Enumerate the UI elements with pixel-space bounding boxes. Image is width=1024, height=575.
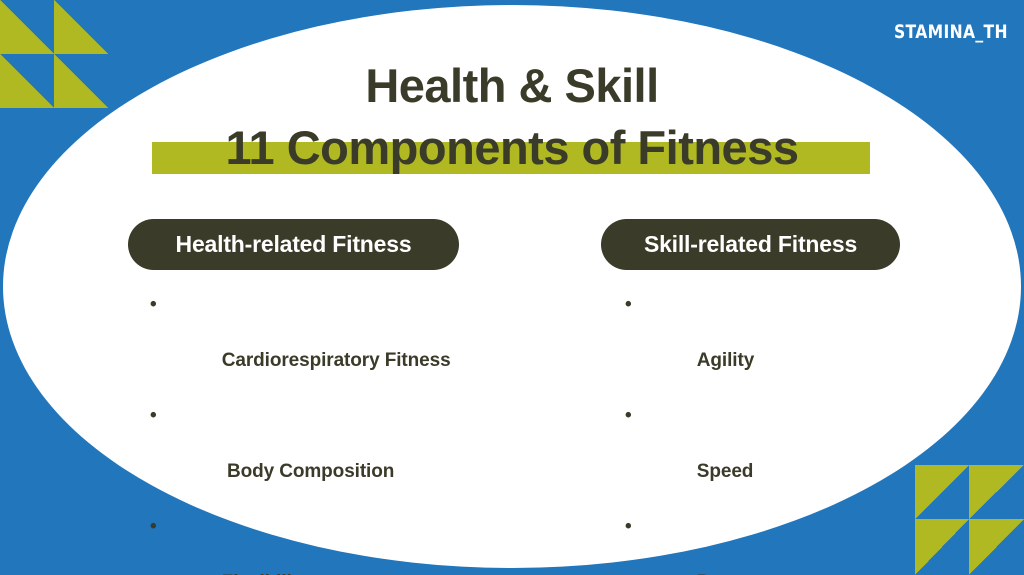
title-line-secondary: 11 Components of Fitness bbox=[0, 117, 1024, 179]
health-related-list: • Cardiorespiratory Fitness • Body Compo… bbox=[148, 291, 528, 575]
skill-related-column: Skill-related Fitness • Agility • Speed … bbox=[601, 219, 961, 575]
bullet-dot-icon: • bbox=[150, 291, 157, 319]
list-item: • Cardiorespiratory Fitness bbox=[148, 291, 528, 402]
skill-related-heading-pill: Skill-related Fitness bbox=[601, 219, 900, 270]
bullet-dot-icon: • bbox=[150, 513, 157, 541]
infographic-poster: STAMINA_TH Health & Skill 11 Components … bbox=[0, 0, 1024, 575]
health-related-column: Health-related Fitness • Cardiorespirato… bbox=[128, 219, 528, 575]
page-title: Health & Skill 11 Components of Fitness bbox=[0, 58, 1024, 179]
skill-related-list: • Agility • Speed • Power • Coordination… bbox=[623, 291, 961, 575]
list-item: • Body Composition bbox=[148, 402, 528, 513]
list-item: • Speed bbox=[623, 402, 961, 513]
list-item: • Agility bbox=[623, 291, 961, 402]
list-item-label: Speed bbox=[697, 461, 754, 482]
health-related-heading-pill: Health-related Fitness bbox=[128, 219, 459, 270]
bullet-dot-icon: • bbox=[150, 402, 157, 430]
bullet-dot-icon: • bbox=[625, 402, 632, 430]
list-item-label: Agility bbox=[697, 350, 754, 371]
bullet-dot-icon: • bbox=[625, 291, 632, 319]
poster-content: Health & Skill 11 Components of Fitness … bbox=[0, 0, 1024, 575]
list-item: • Power bbox=[623, 513, 961, 575]
bullet-dot-icon: • bbox=[625, 513, 632, 541]
title-line-primary: Health & Skill bbox=[0, 58, 1024, 114]
title-line-secondary-wrap: 11 Components of Fitness bbox=[0, 117, 1024, 179]
list-item-label: Body Composition bbox=[222, 461, 394, 482]
list-item: • Flexibility bbox=[148, 513, 528, 575]
list-item-label: Cardiorespiratory Fitness bbox=[222, 350, 451, 371]
